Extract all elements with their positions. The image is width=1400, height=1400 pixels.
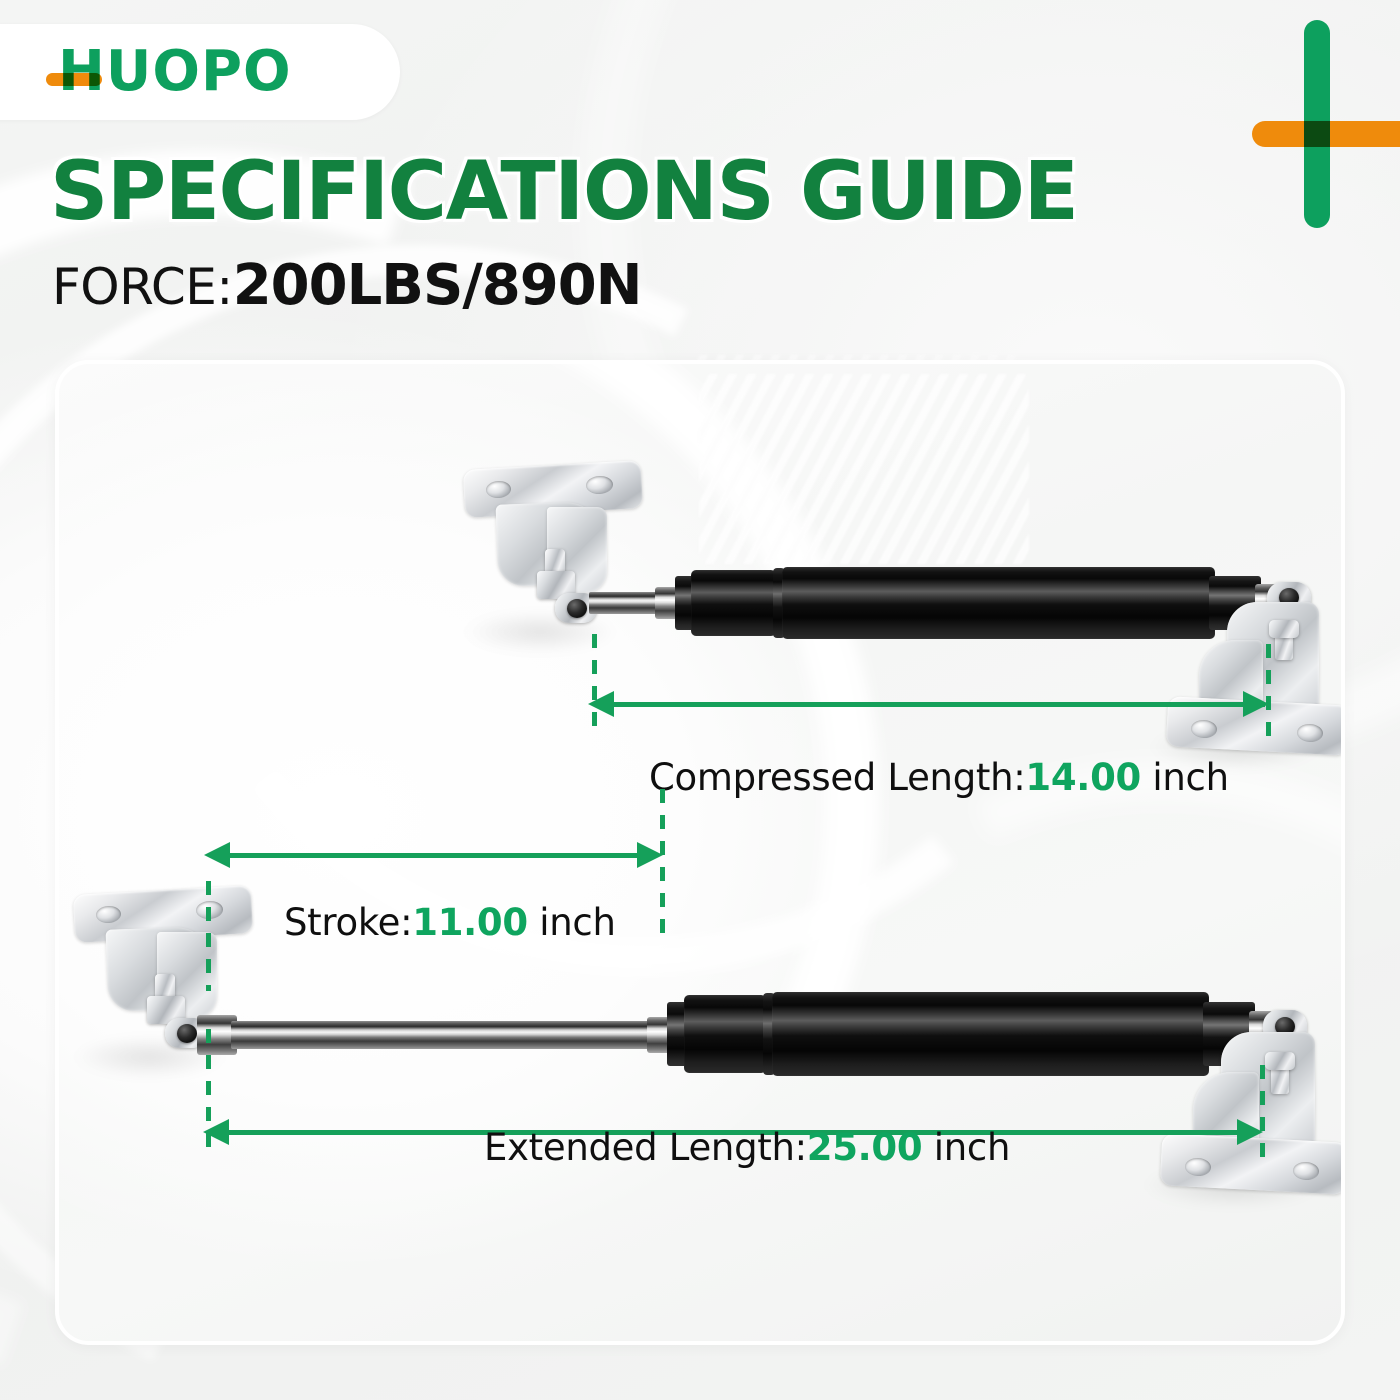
logo-mark: HUOPO bbox=[58, 45, 322, 99]
extended-right-bracket bbox=[1121, 1004, 1316, 1214]
logo-wordmark: HUOPO bbox=[58, 39, 292, 104]
extended-length-unit: inch bbox=[922, 1126, 1010, 1169]
force-label: FORCE: bbox=[52, 258, 233, 316]
product-illustration-card: Compressed Length:14.00 inch bbox=[55, 360, 1345, 1345]
extended-arrow-left bbox=[203, 1119, 229, 1145]
compressed-length-prefix: Compressed Length: bbox=[649, 756, 1025, 799]
stroke-unit: inch bbox=[528, 901, 616, 944]
compressed-arrow-left bbox=[588, 691, 614, 717]
compressed-length-unit: inch bbox=[1141, 756, 1229, 799]
cylinder-shoulder bbox=[684, 995, 766, 1073]
page-title: SPECIFICATIONS GUIDE bbox=[50, 152, 1077, 233]
bracket-nut bbox=[1265, 1052, 1295, 1070]
stroke-prefix: Stroke: bbox=[284, 901, 412, 944]
compressed-length-label: Compressed Length:14.00 inch bbox=[649, 756, 1229, 799]
extended-arrow-right bbox=[1237, 1119, 1263, 1145]
extended-length-prefix: Extended Length: bbox=[484, 1126, 807, 1169]
stroke-arrow-left bbox=[204, 842, 230, 868]
force-value: 200LBS/890N bbox=[233, 253, 642, 318]
bracket-pivot-eye bbox=[567, 599, 587, 618]
extended-piston-rod bbox=[231, 1021, 673, 1049]
cylinder-shoulder bbox=[691, 570, 776, 636]
stroke-label: Stroke:11.00 inch bbox=[284, 901, 616, 944]
force-spec-line: FORCE:200LBS/890N bbox=[52, 258, 642, 314]
compressed-right-bracket bbox=[1127, 576, 1317, 776]
logo-orange-crossbar-icon bbox=[46, 73, 102, 86]
extended-length-label: Extended Length:25.00 inch bbox=[484, 1126, 1010, 1169]
decorative-plus-icon bbox=[1252, 20, 1400, 228]
compressed-strut-assembly bbox=[59, 364, 1345, 794]
extended-extension-line-right bbox=[1260, 1065, 1265, 1165]
stroke-dimension-line bbox=[228, 853, 646, 858]
compressed-arrow-right bbox=[1243, 691, 1269, 717]
plus-intersection bbox=[1304, 121, 1330, 147]
bracket-nut bbox=[1269, 620, 1299, 638]
compressed-left-bracket bbox=[459, 459, 639, 649]
compressed-length-value: 14.00 bbox=[1025, 756, 1141, 799]
stroke-extension-line-left bbox=[206, 881, 211, 991]
compressed-dimension-line bbox=[611, 702, 1265, 707]
brand-logo: HUOPO bbox=[0, 24, 400, 120]
extended-strut-assembly bbox=[59, 869, 1345, 1289]
extended-length-value: 25.00 bbox=[807, 1126, 923, 1169]
bracket-pivot-eye bbox=[177, 1024, 197, 1043]
stroke-arrow-right bbox=[637, 842, 663, 868]
stroke-value: 11.00 bbox=[412, 901, 528, 944]
